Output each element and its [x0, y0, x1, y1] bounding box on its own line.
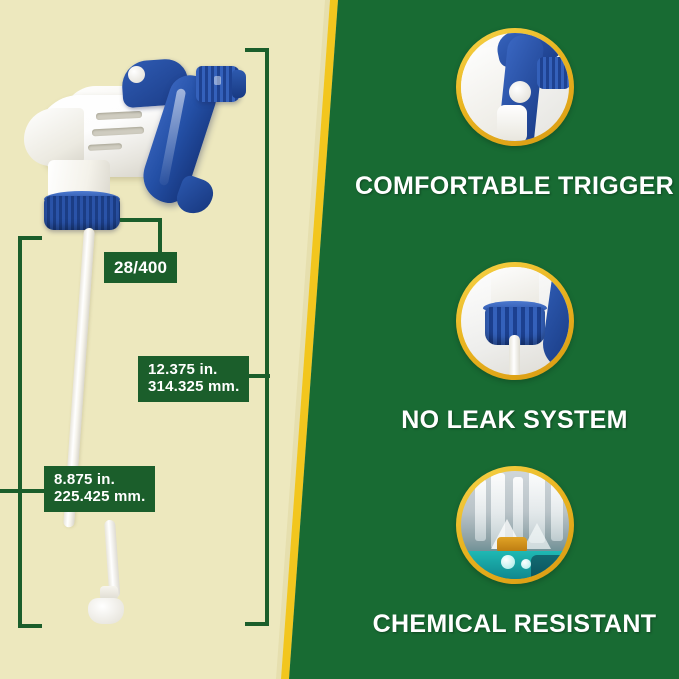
feature-image-ring — [456, 28, 574, 146]
dip-tube-length-label: 8.875 in. 225.425 mm. — [44, 466, 155, 512]
neck-finish-value: 28/400 — [114, 258, 167, 277]
photo-stem — [497, 105, 527, 141]
photo-dip-tube — [509, 335, 520, 375]
lab-glassware-photo — [461, 471, 569, 579]
trigger-closeup-photo — [461, 33, 569, 141]
photo-dark-liquid — [531, 555, 569, 579]
photo-test-tube — [475, 479, 486, 541]
feature-label-comfortable-trigger: COMFORTABLE TRIGGER — [350, 172, 679, 201]
infographic-canvas: 28/400 12.375 in. 314.325 mm. 8.875 in. … — [0, 0, 679, 679]
feature-chemical-resistant: CHEMICAL RESISTANT — [350, 466, 679, 639]
photo-flask — [523, 523, 551, 549]
features-panel: COMFORTABLE TRIGGER NO LEAK SYSTEM — [350, 0, 679, 679]
feature-image-ring — [456, 262, 574, 380]
neck-finish-leader-horizontal — [120, 218, 162, 222]
dip-tube-foot — [88, 598, 124, 624]
neck-finish-leader-vertical — [158, 218, 162, 254]
dip-tube-length-millimeters: 225.425 mm. — [54, 489, 145, 506]
overall-length-inches: 12.375 in. — [148, 362, 239, 379]
neck-finish-label: 28/400 — [104, 252, 177, 283]
photo-pivot — [509, 81, 531, 103]
feature-no-leak-system: NO LEAK SYSTEM — [350, 262, 679, 435]
overall-length-bracket-top-tick — [245, 48, 269, 52]
bottle-collar — [44, 196, 120, 230]
trigger-pivot-icon — [128, 66, 145, 83]
photo-bubble — [501, 555, 515, 569]
photo-test-tube — [551, 481, 563, 541]
dip-tube-leader — [0, 489, 46, 493]
nozzle-highlight — [214, 76, 221, 85]
dip-tube-length-inches: 8.875 in. — [54, 472, 145, 489]
overall-length-label: 12.375 in. 314.325 mm. — [138, 356, 249, 402]
feature-label-chemical-resistant: CHEMICAL RESISTANT — [350, 610, 679, 639]
dip-tube-bracket-line — [18, 236, 22, 628]
photo-nozzle — [537, 57, 569, 89]
overall-length-bracket-bottom-tick — [245, 622, 269, 626]
cap-and-dip-tube-photo — [461, 267, 569, 375]
nozzle-cap — [232, 70, 246, 98]
feature-image-ring — [456, 466, 574, 584]
overall-length-bracket-line — [265, 48, 269, 626]
overall-length-millimeters: 314.325 mm. — [148, 379, 239, 396]
sprayer-nose — [24, 108, 84, 166]
feature-comfortable-trigger: COMFORTABLE TRIGGER — [350, 28, 679, 201]
dip-tube-bracket-top-tick — [18, 236, 42, 240]
dip-tube-bracket-bottom-tick — [18, 624, 42, 628]
trigger-sprayer-image — [0, 0, 300, 679]
feature-label-no-leak-system: NO LEAK SYSTEM — [350, 406, 679, 435]
photo-bubble — [521, 559, 531, 569]
